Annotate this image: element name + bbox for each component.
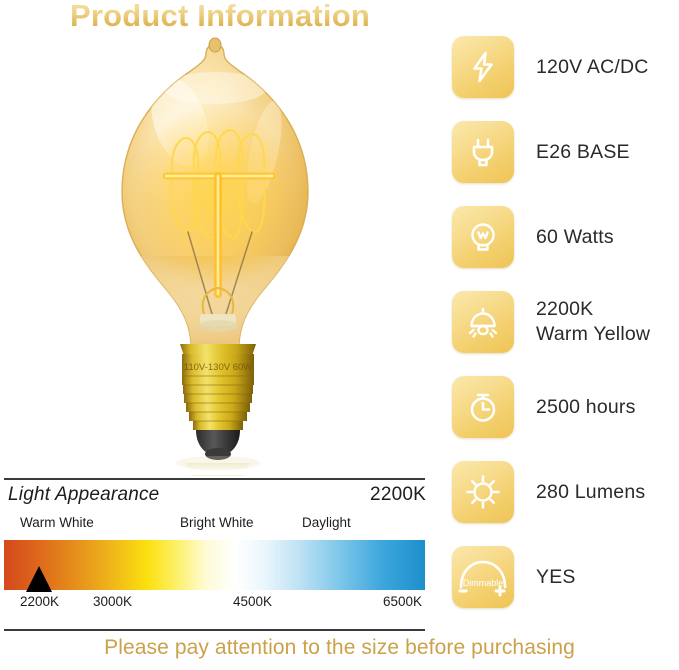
feature-row-voltage: 120V AC/DC: [452, 36, 679, 98]
dimmable-icon-caption: Dimmable: [463, 578, 504, 588]
plug-icon: [452, 121, 514, 183]
feature-row-base: E26 BASE: [452, 121, 679, 183]
feature-row-wattage: 60 Watts: [452, 206, 679, 268]
light-appearance-label: Light Appearance: [8, 484, 159, 506]
light-bulb-icon: [452, 206, 514, 268]
feature-row-lifespan: 2500 hours: [452, 376, 679, 438]
stopwatch-icon: [452, 376, 514, 438]
lightning-bolt-icon: [452, 36, 514, 98]
bulb-base-e26: 110V-130V 60W: [180, 344, 256, 460]
scale-tick-6500k: 6500K: [383, 594, 422, 609]
feature-label-wattage: 60 Watts: [536, 225, 614, 250]
feature-row-color-temperature: 2200K Warm Yellow: [452, 291, 679, 353]
feature-label-base: E26 BASE: [536, 140, 630, 165]
scale-tick-3000k: 3000K: [93, 594, 132, 609]
feature-row-lumens: 280 Lumens: [452, 461, 679, 523]
feature-label-lumens: 280 Lumens: [536, 480, 645, 505]
scale-tick-4500k: 4500K: [233, 594, 272, 609]
pendant-lamp-icon: [452, 291, 514, 353]
color-temperature-marker: [26, 566, 52, 592]
divider-top: [4, 478, 425, 480]
dimmable-icon: Dimmable: [452, 546, 514, 608]
footer-note: Please pay attention to the size before …: [0, 636, 679, 660]
light-appearance-value: 2200K: [370, 484, 426, 506]
svg-text:110V-130V 60W: 110V-130V 60W: [184, 362, 253, 373]
light-appearance-panel: Light Appearance 2200K Warm White Bright…: [0, 470, 440, 630]
feature-label-lifespan: 2500 hours: [536, 395, 636, 420]
scale-category-warm-white: Warm White: [20, 515, 94, 530]
product-image-bulb: 110V-130V 60W: [60, 26, 370, 476]
feature-label-voltage: 120V AC/DC: [536, 55, 649, 80]
scale-category-daylight: Daylight: [302, 515, 351, 530]
feature-label-color-temperature: 2200K Warm Yellow: [536, 297, 650, 346]
color-temperature-gradient-bar: [4, 540, 425, 590]
feature-label-dimmable: YES: [536, 565, 576, 590]
sun-icon: [452, 461, 514, 523]
feature-list: 120V AC/DC E26 BASE 60 Watts: [452, 36, 679, 631]
feature-row-dimmable: Dimmable YES: [452, 546, 679, 608]
scale-tick-2200k: 2200K: [20, 594, 59, 609]
bulb-stem: [198, 314, 238, 332]
divider-bottom: [4, 629, 425, 631]
bulb-illustration: 110V-130V 60W: [60, 26, 370, 476]
scale-category-bright-white: Bright White: [180, 515, 254, 530]
